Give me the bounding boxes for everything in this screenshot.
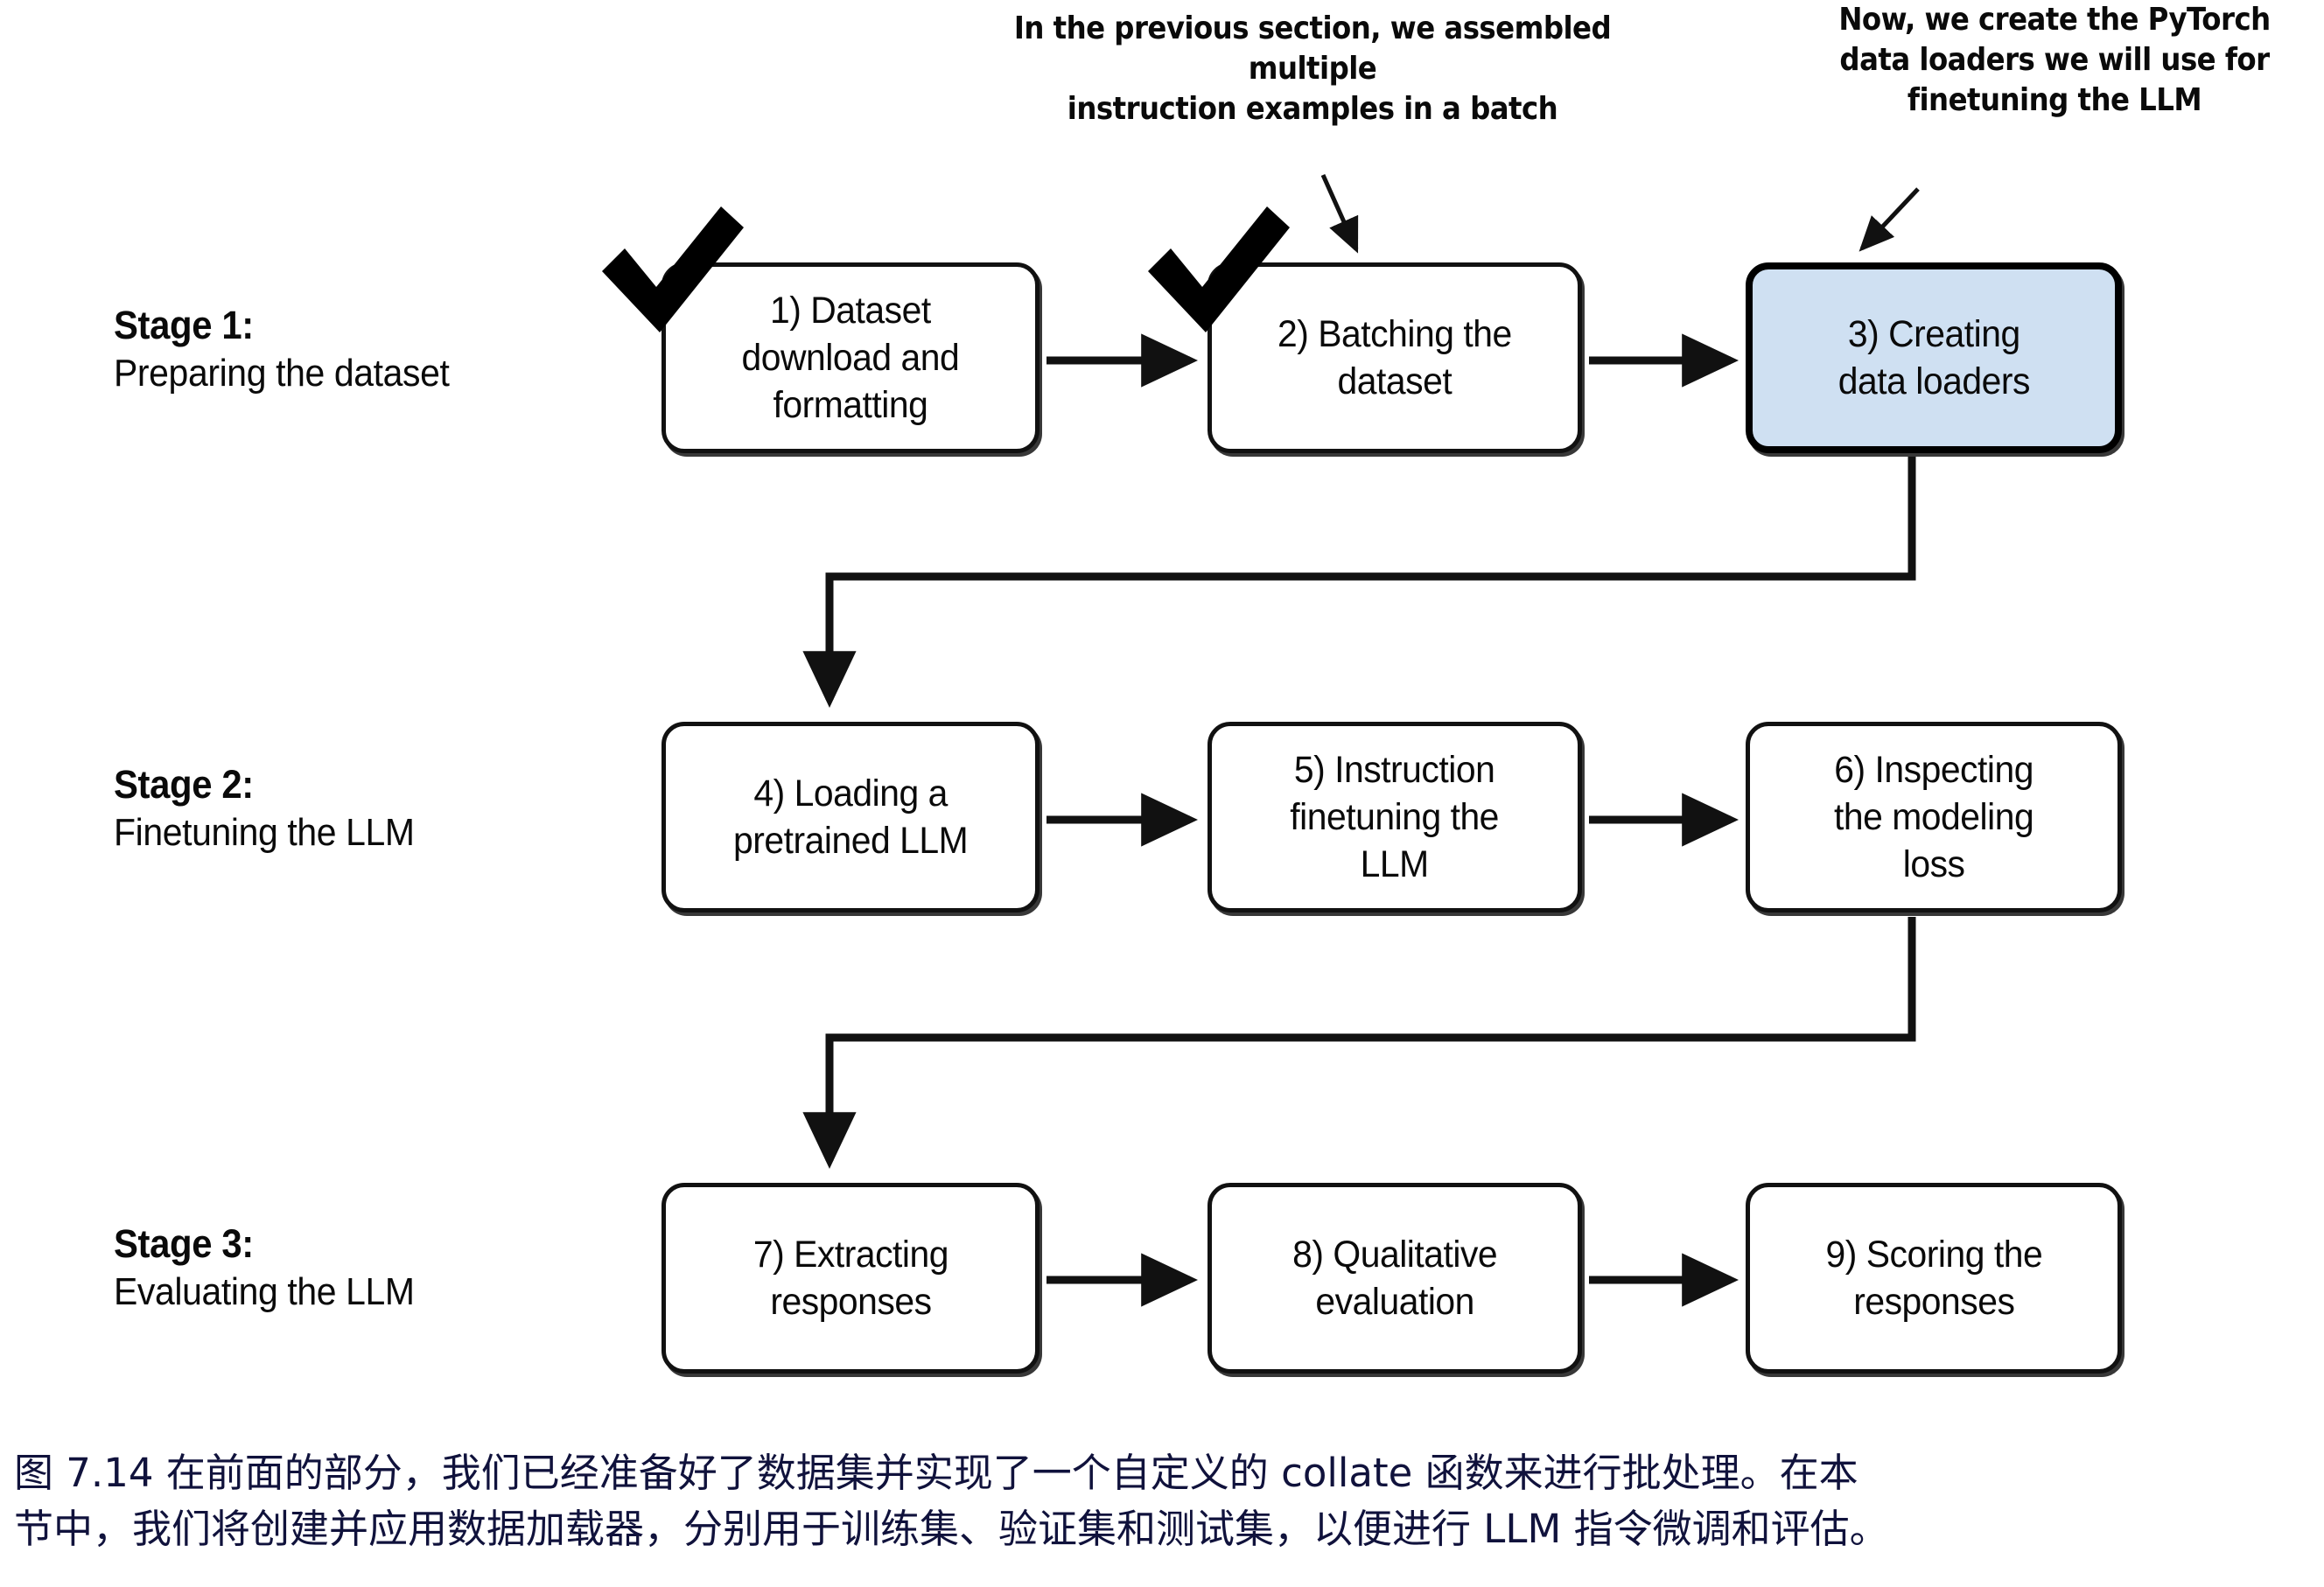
node-step-8[interactable]: 8) Qualitative evaluation: [1207, 1183, 1582, 1374]
node-step-7-line1: 7) Extracting: [752, 1234, 948, 1276]
node-step-7-label: 7) Extracting responses: [752, 1231, 948, 1325]
node-step-9-label: 9) Scoring the responses: [1825, 1231, 2042, 1325]
node-step-6-label: 6) Inspecting the modeling loss: [1834, 746, 2033, 889]
stage-2-subtitle: Finetuning the LLM: [114, 809, 415, 856]
stage-1-subtitle: Preparing the dataset: [114, 350, 449, 397]
node-step-3-line1: 3) Creating: [1848, 313, 2020, 355]
stage-label-2: Stage 2: Finetuning the LLM: [114, 761, 415, 856]
node-step-7[interactable]: 7) Extracting responses: [661, 1183, 1039, 1374]
annotation-left-line1: In the previous section, we assembled mu…: [1014, 10, 1611, 87]
annotation-pytorch-dataloaders: Now, we create the PyTorch data loaders …: [1812, 0, 2297, 121]
node-step-3[interactable]: 3) Creating data loaders: [1746, 262, 2122, 453]
node-step-5[interactable]: 5) Instruction finetuning the LLM: [1207, 722, 1582, 912]
node-step-8-line2: evaluation: [1315, 1281, 1473, 1323]
annotation-right-line1: Now, we create the PyTorch: [1838, 2, 2270, 38]
node-step-6[interactable]: 6) Inspecting the modeling loss: [1746, 722, 2122, 912]
stage-3-subtitle: Evaluating the LLM: [114, 1269, 415, 1316]
node-step-2-label: 2) Batching the dataset: [1277, 311, 1512, 405]
node-step-1-label: 1) Dataset download and formatting: [742, 287, 960, 430]
node-step-4[interactable]: 4) Loading a pretrained LLM: [661, 722, 1039, 912]
stage-label-1: Stage 1: Preparing the dataset: [114, 302, 449, 397]
node-step-5-line1: 5) Instruction: [1294, 749, 1494, 791]
node-step-2-line1: 2) Batching the: [1277, 313, 1512, 355]
node-step-5-line2: finetuning the: [1291, 796, 1500, 838]
node-step-6-line2: the modeling: [1834, 796, 2033, 838]
annotation-pointer-right: [1862, 189, 1918, 248]
annotation-pointer-left: [1323, 175, 1356, 249]
node-step-3-label: 3) Creating data loaders: [1837, 311, 2029, 405]
stage-2-title: Stage 2:: [114, 761, 415, 809]
elbow-connector-stage1-to-stage2: [829, 457, 1912, 700]
node-step-8-label: 8) Qualitative evaluation: [1292, 1231, 1497, 1325]
node-step-6-line3: loss: [1903, 843, 1965, 885]
caption-line-1: 图 7.14 在前面的部分，我们已经准备好了数据集并实现了一个自定义的 coll…: [14, 1445, 2320, 1501]
check-icon: [1144, 203, 1293, 347]
node-step-5-label: 5) Instruction finetuning the LLM: [1291, 746, 1500, 889]
node-step-9-line2: responses: [1853, 1281, 2014, 1323]
node-step-1-line3: formatting: [773, 384, 928, 426]
stage-label-3: Stage 3: Evaluating the LLM: [114, 1220, 415, 1316]
node-step-4-line2: pretrained LLM: [733, 820, 968, 862]
figure-canvas: In the previous section, we assembled mu…: [0, 0, 2324, 1587]
node-step-3-line2: data loaders: [1837, 360, 2029, 402]
stage-1-title: Stage 1:: [114, 302, 449, 350]
node-step-9[interactable]: 9) Scoring the responses: [1746, 1183, 2122, 1374]
node-step-4-label: 4) Loading a pretrained LLM: [733, 770, 968, 864]
figure-caption: 图 7.14 在前面的部分，我们已经准备好了数据集并实现了一个自定义的 coll…: [14, 1445, 2320, 1557]
node-step-5-line3: LLM: [1361, 843, 1429, 885]
elbow-connector-stage2-to-stage3: [829, 917, 1912, 1161]
node-step-9-line1: 9) Scoring the: [1825, 1234, 2042, 1276]
annotation-right-line2: data loaders we will use for: [1839, 42, 2269, 78]
node-step-8-line1: 8) Qualitative: [1292, 1234, 1497, 1276]
node-step-1-line2: download and: [742, 337, 960, 379]
stage-3-title: Stage 3:: [114, 1220, 415, 1269]
check-icon: [598, 203, 747, 347]
annotation-left-line2: instruction examples in a batch: [1067, 91, 1557, 127]
node-step-6-line1: 6) Inspecting: [1834, 749, 2033, 791]
node-step-7-line2: responses: [770, 1281, 931, 1323]
node-step-4-line1: 4) Loading a: [753, 773, 947, 814]
node-step-2-line2: dataset: [1338, 360, 1452, 402]
caption-line-2: 节中，我们将创建并应用数据加载器，分别用于训练集、验证集和测试集，以便进行 LL…: [14, 1501, 2320, 1557]
annotation-previous-section: In the previous section, we assembled mu…: [958, 9, 1667, 129]
annotation-right-line3: finetuning the LLM: [1907, 82, 2201, 118]
node-step-1-line1: 1) Dataset: [770, 290, 931, 332]
